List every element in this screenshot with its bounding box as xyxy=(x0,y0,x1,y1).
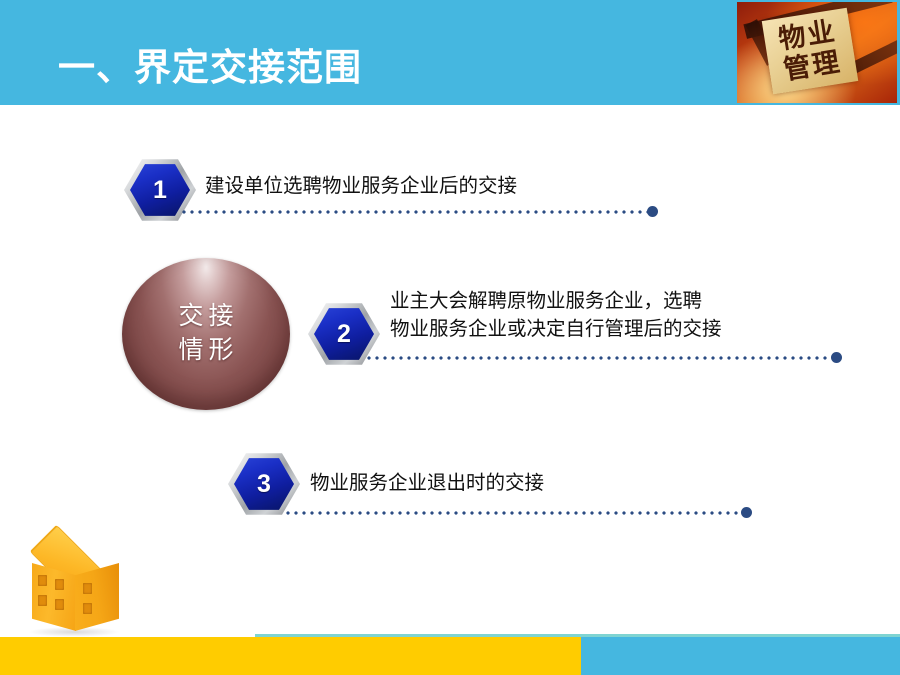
header-thumbnail-image: 物业 管理 xyxy=(737,2,897,103)
building-window xyxy=(55,599,64,610)
item-3-text-line1: 物业服务企业退出时的交接 xyxy=(310,470,544,497)
item-2-dotted-line xyxy=(365,356,834,360)
hexagon-badge-3[interactable]: 3 xyxy=(228,452,300,516)
slide-canvas: 一、界定交接范围 物业 管理 交接 情形 1 建设单位选聘物业服务企业后的交接 xyxy=(0,0,900,675)
page-title: 一、界定交接范围 xyxy=(58,45,362,91)
item-1-text-line1: 建设单位选聘物业服务企业后的交接 xyxy=(205,173,517,200)
building-window xyxy=(38,575,47,586)
building-window xyxy=(83,583,92,594)
hexagon-number: 2 xyxy=(337,322,351,347)
item-1-dotted-line xyxy=(180,210,650,214)
building-window xyxy=(55,579,64,590)
item-3-dotted-line xyxy=(284,511,744,515)
thumb-plaque: 物业 管理 xyxy=(762,8,859,95)
building-icon xyxy=(18,527,126,637)
center-circle-line1: 交接 xyxy=(173,300,238,334)
bottom-bar-yellow xyxy=(0,637,581,675)
building-window xyxy=(38,595,47,606)
building-window xyxy=(83,603,92,614)
center-circle-label: 交接 情形 xyxy=(122,258,290,410)
center-circle-line2: 情形 xyxy=(173,334,238,368)
item-3-line-end-dot xyxy=(741,507,752,518)
item-2-text-line2: 物业服务企业或决定自行管理后的交接 xyxy=(390,316,722,343)
item-1-line-end-dot xyxy=(647,206,658,217)
hexagon-number: 1 xyxy=(153,178,167,203)
hexagon-number: 3 xyxy=(257,472,271,497)
bottom-bar-cyan xyxy=(581,637,900,675)
item-2-text-line1: 业主大会解聘原物业服务企业，选聘 xyxy=(390,288,702,315)
item-2-line-end-dot xyxy=(831,352,842,363)
